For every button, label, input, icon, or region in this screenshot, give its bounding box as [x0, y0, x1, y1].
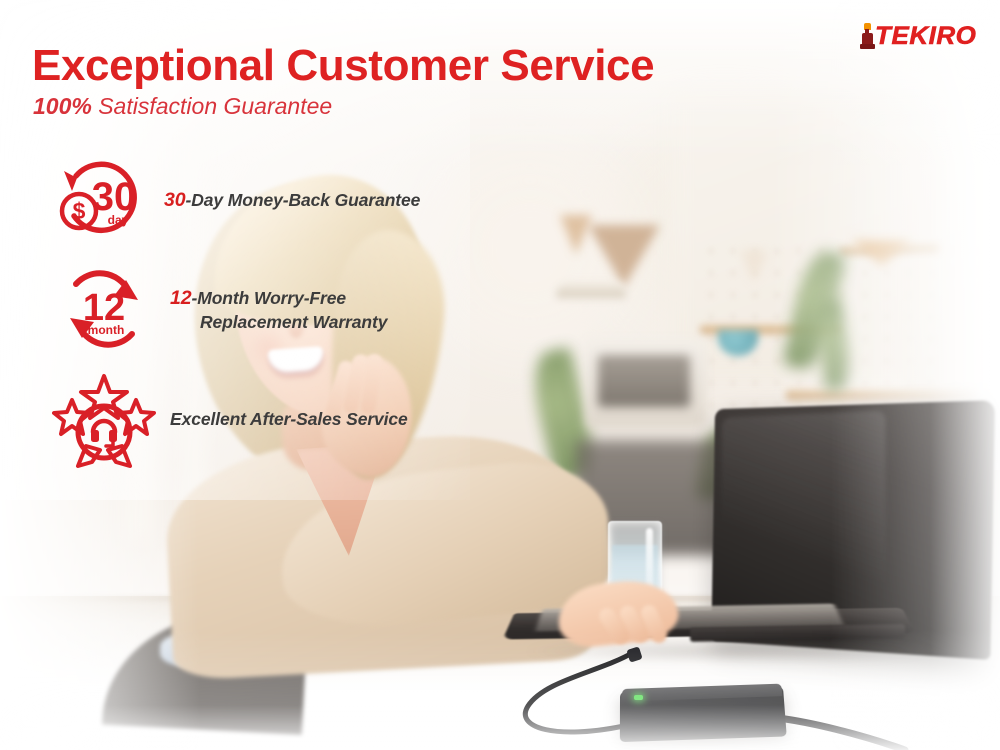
feature-text: -Day Money-Back Guarantee	[186, 190, 421, 210]
feature-label-warranty: 12-Month Worry-Free Replacement Warranty	[164, 285, 387, 335]
feature-text: -Month Worry-Free	[192, 288, 347, 308]
feature-text-line2: Replacement Warranty	[170, 311, 387, 335]
badge-icon-svg	[52, 370, 156, 470]
after-sales-service-badge-icon	[44, 370, 164, 470]
logo-wordmark: TEKIRO	[875, 22, 976, 51]
promotional-banner: TEKIRO Exceptional Customer Service 100%…	[0, 0, 1000, 750]
feature-label-money-back: 30-Day Money-Back Guarantee	[164, 187, 420, 213]
12-month-warranty-icon: 12 month	[44, 262, 164, 358]
banner-content: TEKIRO Exceptional Customer Service 100%…	[0, 0, 1000, 750]
feature-text: Excellent After-Sales Service	[170, 409, 408, 429]
30-day-money-back-icon: $ 30 day	[44, 154, 164, 246]
plug-icon	[860, 23, 875, 49]
page-title: Exceptional Customer Service	[32, 44, 654, 88]
feature-list: $ 30 day 30-Day Money-Back Guarantee	[44, 152, 474, 472]
feature-item-warranty: 12 month 12-Month Worry-Free Replacement…	[44, 258, 474, 362]
tekiro-logo[interactable]: TEKIRO	[860, 22, 974, 50]
subtitle-percent: 100%	[33, 93, 92, 119]
headset-ear-left	[91, 430, 99, 442]
plug-icon-base	[860, 44, 875, 49]
medal-circle	[78, 406, 130, 458]
icon-unit-day: day	[108, 213, 129, 227]
feature-item-money-back: $ 30 day 30-Day Money-Back Guarantee	[44, 152, 474, 248]
30-day-icon-svg: $ 30 day	[52, 154, 156, 246]
feature-label-after-sales: Excellent After-Sales Service	[164, 408, 408, 432]
feature-highlight: 12	[170, 287, 192, 309]
page-subtitle: 100% Satisfaction Guarantee	[33, 95, 332, 118]
feature-highlight: 30	[164, 189, 186, 211]
subtitle-rest: Satisfaction Guarantee	[92, 93, 332, 119]
headset-ear-right	[109, 430, 117, 442]
feature-item-after-sales: Excellent After-Sales Service	[44, 368, 474, 472]
headset-mic	[106, 442, 113, 446]
icon-unit-month: month	[88, 323, 125, 337]
12-month-icon-svg: 12 month	[52, 262, 156, 358]
svg-text:$: $	[73, 198, 86, 224]
